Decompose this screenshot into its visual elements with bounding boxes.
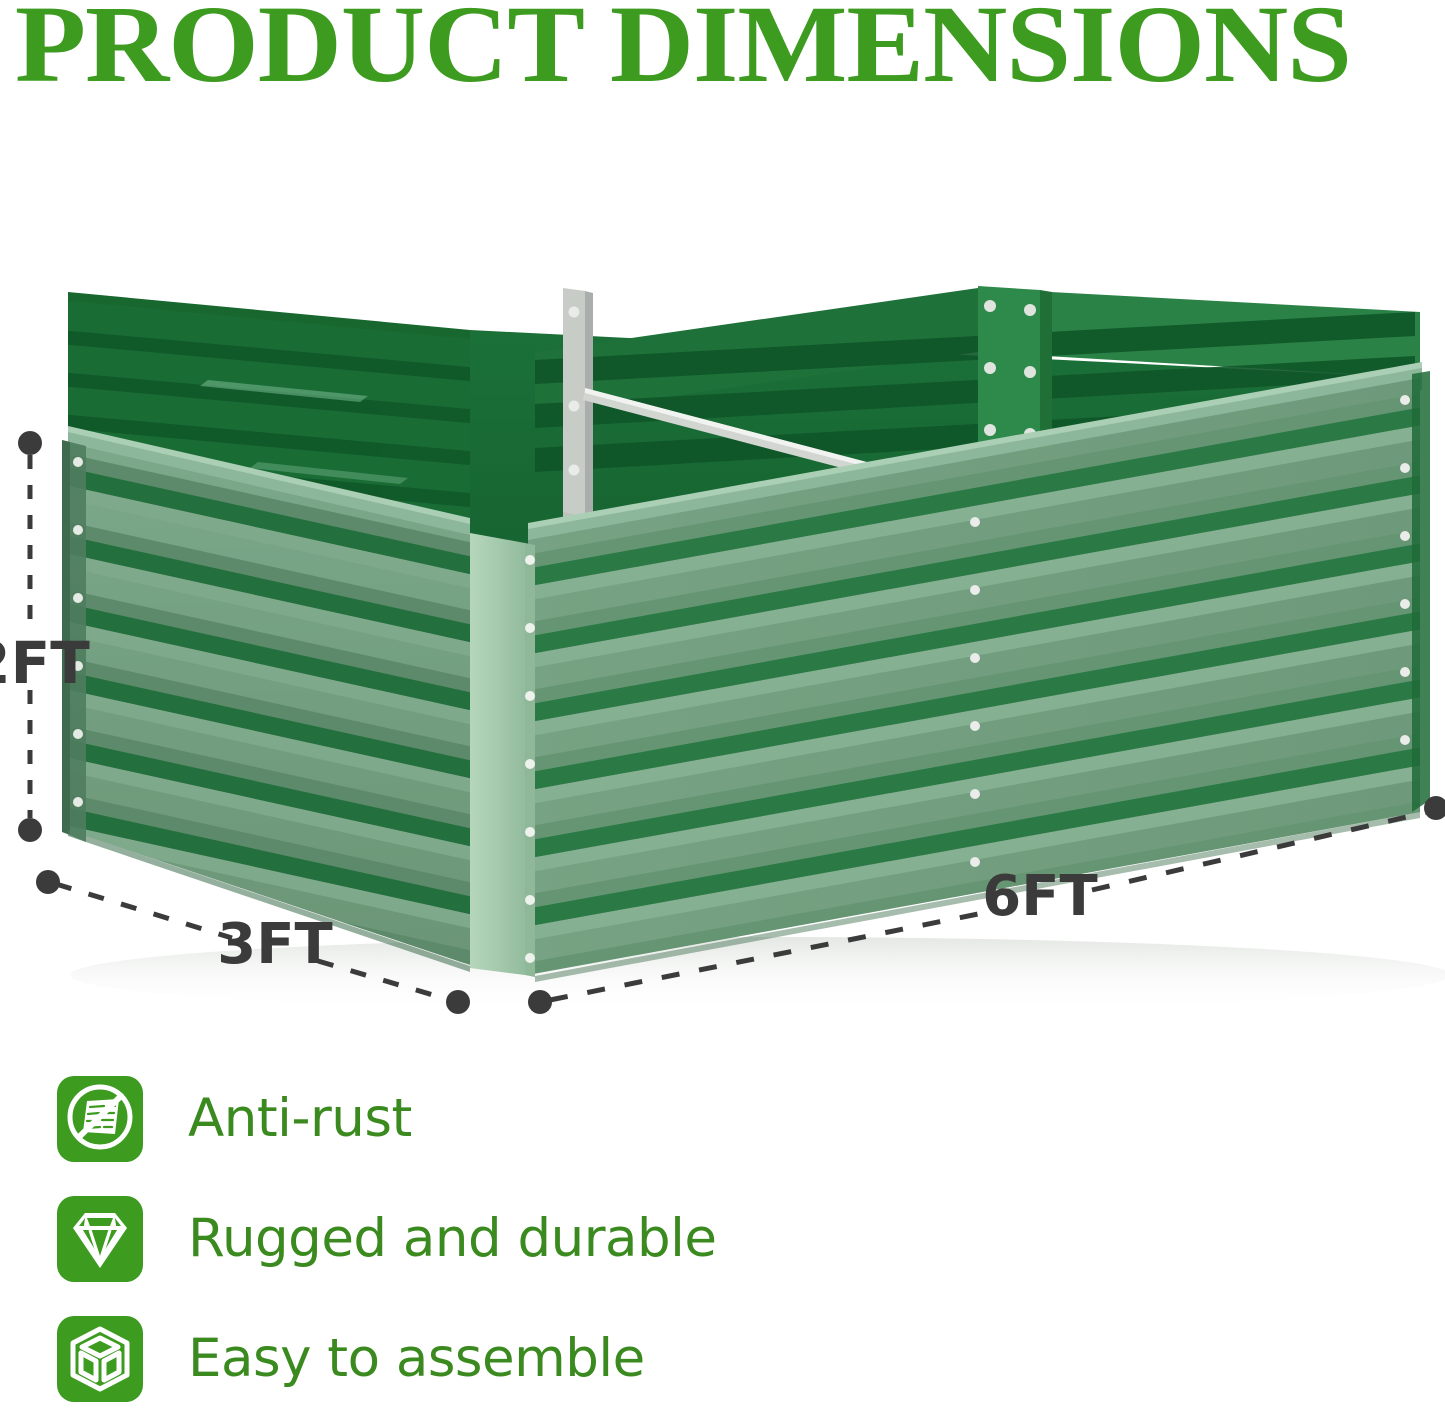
svg-text:3FT: 3FT xyxy=(217,912,332,977)
box-cube-icon xyxy=(57,1316,143,1402)
diamond-gem-icon xyxy=(57,1196,143,1282)
feature-list: Anti-rust Rugged and xyxy=(0,1062,1445,1422)
no-rust-icon xyxy=(57,1076,143,1162)
feature-label: Rugged and durable xyxy=(188,1206,716,1272)
feature-item-rugged-durable: Rugged and durable xyxy=(0,1182,1445,1302)
feature-label: Easy to assemble xyxy=(188,1326,645,1392)
feature-item-anti-rust: Anti-rust xyxy=(0,1062,1445,1182)
svg-text:2FT: 2FT xyxy=(0,629,90,697)
feature-label: Anti-rust xyxy=(188,1086,412,1152)
product-illustration: 2FT 3FT 6FT xyxy=(0,0,1445,1060)
feature-item-easy-assemble: Easy to assemble xyxy=(0,1302,1445,1422)
svg-text:6FT: 6FT xyxy=(982,864,1097,929)
